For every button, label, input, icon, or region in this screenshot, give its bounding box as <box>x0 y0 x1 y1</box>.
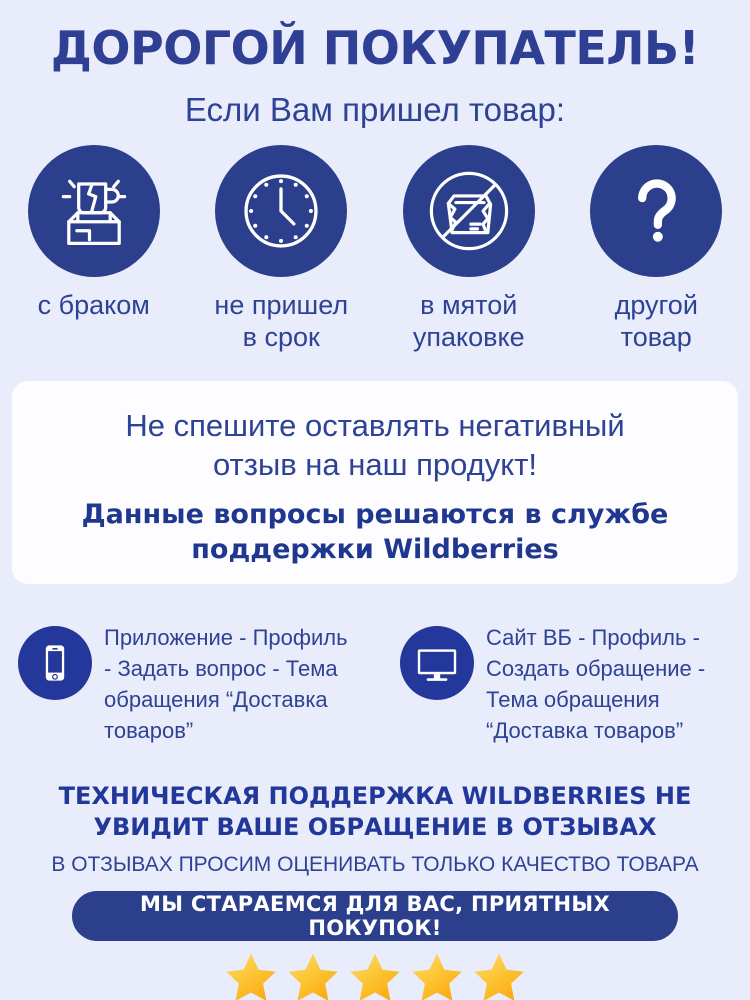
channel-instructions: Сайт ВБ - Профиль - Создать обращение - … <box>486 620 705 746</box>
star-icon <box>346 950 404 1000</box>
reason-item-other: другой товар <box>563 145 750 375</box>
advice-card: Не спешите оставлять негативный отзыв на… <box>12 381 738 584</box>
desktop-monitor-icon <box>400 626 474 700</box>
no-crumpled-package-icon <box>403 145 535 277</box>
star-icon <box>222 950 280 1000</box>
star-icon <box>284 950 342 1000</box>
mobile-phone-icon <box>18 626 92 700</box>
channel-mobile-app: Приложение - Профиль - Задать вопрос - Т… <box>18 620 408 746</box>
clock-icon <box>215 145 347 277</box>
channel-instructions: Приложение - Профиль - Задать вопрос - Т… <box>104 620 348 746</box>
page-subtitle: Если Вам пришел товар: <box>0 90 750 130</box>
cta-button[interactable]: МЫ СТАРАЕМСЯ ДЛЯ ВАС, ПРИЯТНЫХ ПОКУПОК! <box>72 891 678 941</box>
reason-label: другой товар <box>615 289 698 353</box>
promo-card-page: ДОРОГОЙ ПОКУПАТЕЛЬ! Если Вам пришел това… <box>0 0 750 1000</box>
reason-label: в мятой упаковке <box>413 289 525 353</box>
support-notice-bold: ТЕХНИЧЕСКАЯ ПОДДЕРЖКА WILDBERRIES НЕ УВИ… <box>0 781 750 843</box>
support-channels: Приложение - Профиль - Задать вопрос - Т… <box>0 612 750 760</box>
reason-label: не пришел в срок <box>214 289 348 353</box>
rating-stars <box>0 950 750 1000</box>
advice-primary-text: Не спешите оставлять негативный отзыв на… <box>12 406 738 484</box>
reasons-row: с браком <box>0 145 750 375</box>
reason-item-crumpled: в мятой упаковке <box>375 145 563 375</box>
reason-label: с браком <box>38 289 150 321</box>
reason-item-defect: с браком <box>0 145 188 375</box>
channel-website: Сайт ВБ - Профиль - Создать обращение - … <box>400 620 750 746</box>
question-mark-icon <box>590 145 722 277</box>
star-icon <box>470 950 528 1000</box>
star-icon <box>408 950 466 1000</box>
advice-secondary-text: Данные вопросы решаются в службе поддерж… <box>12 497 738 567</box>
reason-item-late: не пришел в срок <box>188 145 376 375</box>
broken-cup-in-box-icon <box>28 145 160 277</box>
support-notice-thin: В ОТЗЫВАХ ПРОСИМ ОЦЕНИВАТЬ ТОЛЬКО КАЧЕСТ… <box>0 852 750 878</box>
page-title: ДОРОГОЙ ПОКУПАТЕЛЬ! <box>0 22 750 74</box>
